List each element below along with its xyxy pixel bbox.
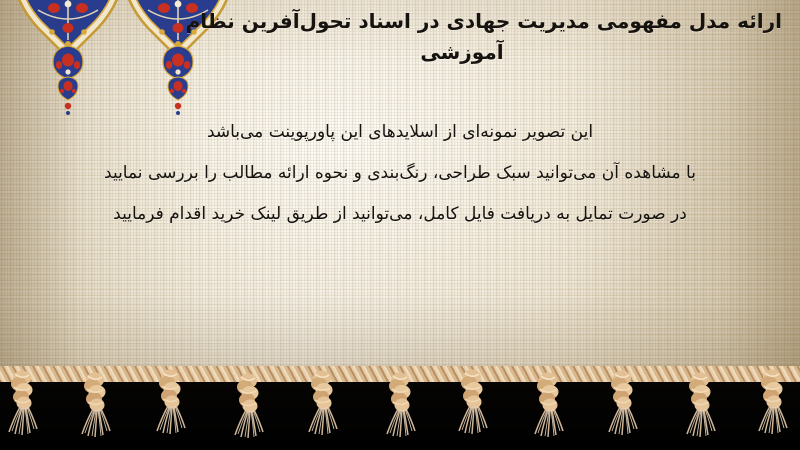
tassel-item (82, 373, 110, 438)
presentation-slide: ارائه مدل مفهومی مدیریت جهادی در اسناد ت… (0, 0, 800, 450)
tassel-item (609, 371, 637, 436)
tassel-item (157, 370, 185, 435)
tassel-item (387, 373, 415, 438)
tassel-item (687, 373, 715, 438)
tassel-item (9, 371, 37, 436)
slide-body-text: این تصویر نمونه‌ای از اسلایدهای این پاور… (0, 112, 800, 235)
tassel-item (459, 370, 487, 435)
slide-title-line-2: آموزشی (202, 37, 782, 68)
tassel-item (535, 373, 563, 438)
tassel-item (235, 374, 263, 439)
slide-body-line-3: در صورت تمایل به دریافت فایل کامل، می‌تو… (0, 194, 800, 235)
slide-body-line-1: این تصویر نمونه‌ای از اسلایدهای این پاور… (0, 112, 800, 153)
tassel-item (309, 371, 337, 436)
slide-body-line-2: با مشاهده آن می‌توانید سبک طراحی، رنگ‌بن… (0, 153, 800, 194)
tassel-item (759, 370, 787, 435)
slide-title-line-1: ارائه مدل مفهومی مدیریت جهادی در اسناد ت… (202, 6, 782, 37)
tassel-fringe (0, 366, 800, 450)
tazhib-ornament-left (12, 0, 124, 115)
tassel-svg (0, 366, 800, 450)
slide-title: ارائه مدل مفهومی مدیریت جهادی در اسناد ت… (202, 6, 782, 68)
